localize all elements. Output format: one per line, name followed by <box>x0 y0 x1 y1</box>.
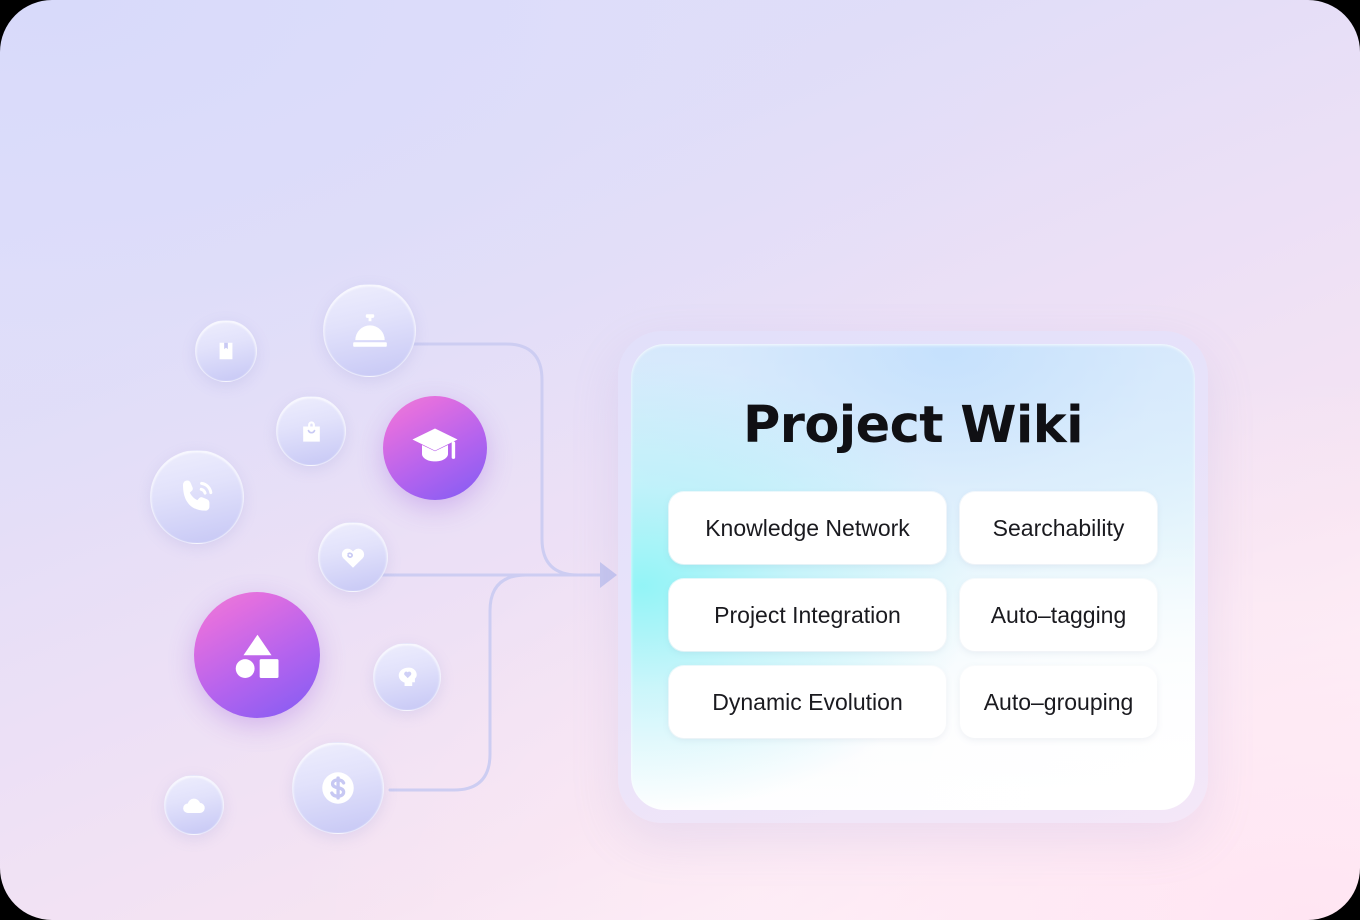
icon-bubble-call[interactable] <box>150 450 244 544</box>
project-wiki-card[interactable]: Project Wiki Knowledge Network Searchabi… <box>631 344 1195 810</box>
phone-call-icon <box>176 476 218 518</box>
icon-bubble-bell[interactable] <box>323 284 416 377</box>
icon-bubble-care[interactable] <box>318 522 388 592</box>
icon-bubble-shapes[interactable] <box>194 592 320 718</box>
chip-dynamic-evolution[interactable]: Dynamic Evolution <box>669 666 946 738</box>
chip-auto-tagging[interactable]: Auto–tagging <box>960 579 1157 651</box>
chip-knowledge-network[interactable]: Knowledge Network <box>669 492 946 564</box>
chip-searchability[interactable]: Searchability <box>960 492 1157 564</box>
service-bell-icon <box>349 310 391 352</box>
book-bookmark-icon <box>215 340 237 362</box>
heart-hand-icon <box>339 543 367 571</box>
dollar-coin-icon <box>317 767 359 809</box>
icon-bubble-finance[interactable] <box>292 742 384 834</box>
chip-auto-grouping[interactable]: Auto–grouping <box>960 666 1157 738</box>
icon-bubble-education[interactable] <box>383 396 487 500</box>
scene-canvas: Project Wiki Knowledge Network Searchabi… <box>0 0 1360 920</box>
graduation-cap-icon <box>409 422 461 474</box>
page-title: Project Wiki <box>631 396 1195 455</box>
shapes-icon <box>228 626 286 684</box>
shopping-bag-icon <box>298 418 325 445</box>
connector-arrowhead-icon <box>600 562 617 588</box>
cloud-icon <box>181 792 207 818</box>
icon-bubble-cloud[interactable] <box>164 775 224 835</box>
chip-project-integration[interactable]: Project Integration <box>669 579 946 651</box>
icon-bubble-mind[interactable] <box>373 643 441 711</box>
icon-bubble-shopping-bag[interactable] <box>276 396 346 466</box>
project-wiki-card-frame: Project Wiki Knowledge Network Searchabi… <box>618 331 1208 823</box>
mind-heart-icon <box>394 664 421 691</box>
feature-chip-grid: Knowledge Network Searchability Project … <box>669 492 1157 738</box>
icon-bubble-book[interactable] <box>195 320 257 382</box>
